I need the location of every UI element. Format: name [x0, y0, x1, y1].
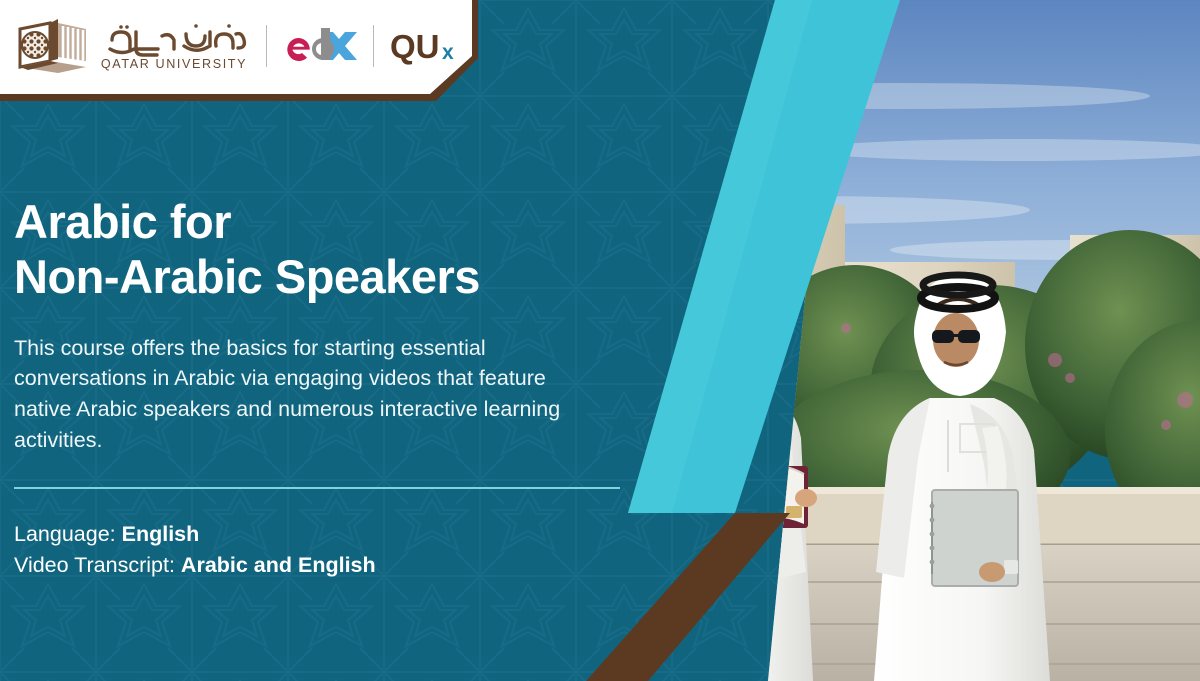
edx-logo	[283, 26, 357, 66]
course-transcript-value: Arabic and English	[181, 553, 376, 577]
logo-separator-2	[373, 25, 374, 67]
svg-text:x: x	[442, 41, 454, 64]
course-title-line-2: Non-Arabic Speakers	[14, 250, 480, 303]
course-title-line-1: Arabic for	[14, 195, 231, 248]
qatar-university-emblem-icon	[14, 17, 92, 75]
logo-separator-1	[266, 25, 267, 67]
course-transcript-label: Video Transcript:	[14, 553, 175, 577]
course-banner: QATAR UNIVERSITY QU x	[0, 0, 1200, 681]
course-language-row: Language: English	[14, 519, 634, 550]
course-description: This course offers the basics for starti…	[14, 333, 604, 455]
svg-text:QU: QU	[390, 28, 440, 65]
course-transcript-row: Video Transcript: Arabic and English	[14, 550, 634, 581]
page-title: Arabic for Non-Arabic Speakers	[14, 195, 634, 305]
qatar-university-wordmark: QATAR UNIVERSITY	[98, 18, 250, 74]
logo-row: QATAR UNIVERSITY QU x	[14, 14, 464, 78]
course-meta: Language: English Video Transcript: Arab…	[14, 519, 634, 580]
qux-logo: QU x	[390, 26, 464, 66]
svg-text:QATAR UNIVERSITY: QATAR UNIVERSITY	[101, 57, 247, 71]
content-divider	[14, 487, 620, 489]
course-language-value: English	[122, 522, 200, 546]
course-content: Arabic for Non-Arabic Speakers This cour…	[14, 195, 634, 580]
course-language-label: Language:	[14, 522, 116, 546]
